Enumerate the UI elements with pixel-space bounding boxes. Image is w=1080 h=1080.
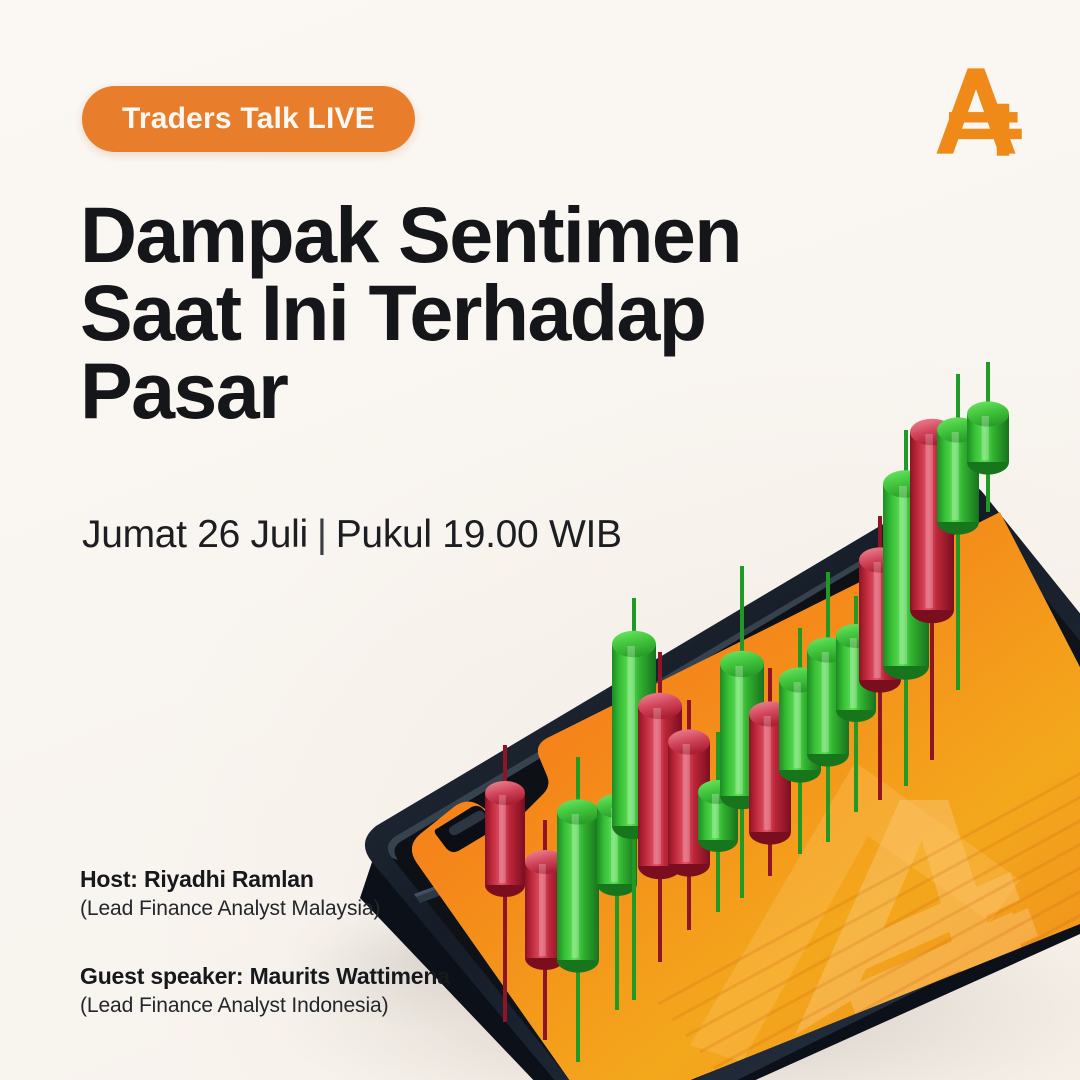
host-block: Host: Riyadhi Ramlan (Lead Finance Analy…	[80, 866, 450, 921]
host-role: (Lead Finance Analyst Malaysia)	[80, 897, 450, 921]
austa-a-logo	[924, 58, 1028, 162]
poster-canvas: Traders Talk LIVE Dampak Sentimen Saat I…	[0, 0, 1080, 1080]
guest-block: Guest speaker: Maurits Wattimena (Lead F…	[80, 963, 450, 1018]
headline-line-2: Saat Ini Terhadap	[80, 274, 800, 352]
host-name: Host: Riyadhi Ramlan	[80, 866, 450, 893]
event-date: Jumat 26 Juli	[82, 513, 308, 556]
event-time: Pukul 19.00 WIB	[336, 513, 622, 556]
headline-line-3: Pasar	[80, 352, 800, 430]
speaker-credits: Host: Riyadhi Ramlan (Lead Finance Analy…	[80, 866, 450, 1018]
live-badge[interactable]: Traders Talk LIVE	[82, 86, 415, 152]
live-badge-label: Traders Talk LIVE	[122, 102, 375, 136]
guest-name: Guest speaker: Maurits Wattimena	[80, 963, 450, 990]
headline-line-1: Dampak Sentimen	[80, 196, 800, 274]
page-title: Dampak Sentimen Saat Ini Terhadap Pasar	[80, 196, 800, 431]
event-datetime: Jumat 26 Juli|Pukul 19.00 WIB	[82, 513, 622, 557]
guest-role: (Lead Finance Analyst Indonesia)	[80, 994, 450, 1018]
datetime-separator: |	[308, 513, 336, 556]
